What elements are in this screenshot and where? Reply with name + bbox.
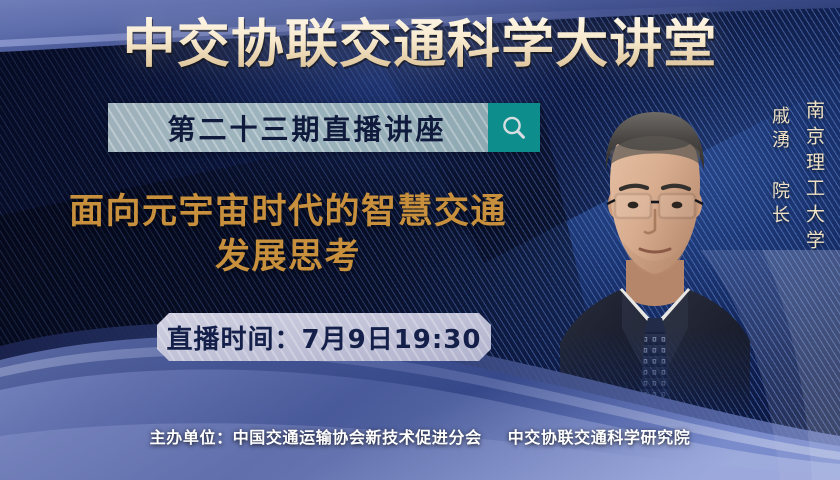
series-badge-background: 第二十三期直播讲座 (108, 103, 488, 152)
footer-prefix: 主办单位： (150, 428, 233, 447)
search-button[interactable] (488, 103, 540, 152)
footer-organizers: 主办单位：中国交通运输协会新技术促进分会中交协联交通科学研究院 (0, 424, 840, 448)
series-badge-bar[interactable]: 第二十三期直播讲座 (108, 103, 540, 152)
broadcast-time-label: 直播时间：7月9日19:30 (167, 319, 482, 356)
livestream-poster: 中交协联交通科学大讲堂 第二十三期直播讲座 面向元宇宙时代的智慧交通 发展思考 (0, 0, 840, 480)
speaker-organization: 南京理工大学 (801, 100, 828, 256)
series-badge-label: 第二十三期直播讲座 (149, 108, 446, 148)
page-title: 中交协联交通科学大讲堂 (0, 16, 840, 74)
footer-organizer-1: 中国交通运输协会新技术促进分会 (233, 428, 482, 447)
speaker-name-and-role: 戚湧 院长 (766, 106, 792, 229)
broadcast-time-badge: 直播时间：7月9日19:30 (157, 313, 491, 361)
lecture-title-line-1: 面向元宇宙时代的智慧交通 (69, 192, 507, 232)
search-icon (499, 113, 529, 143)
footer-organizer-2: 中交协联交通科学研究院 (508, 428, 691, 447)
